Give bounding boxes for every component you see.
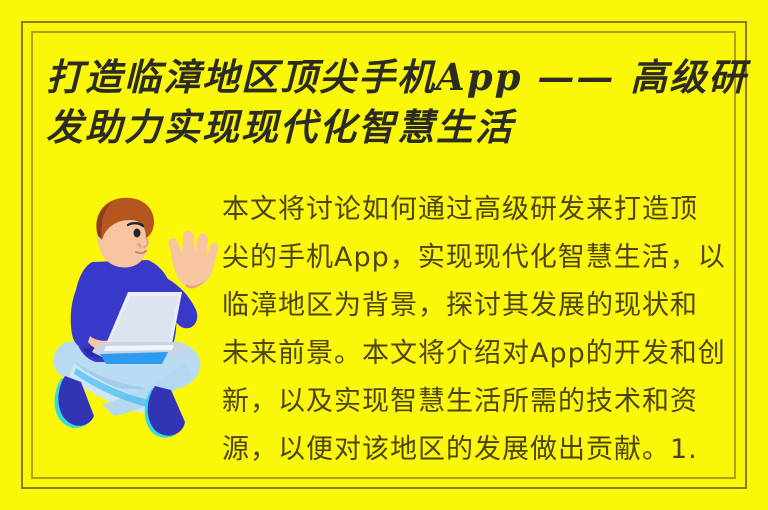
body-line-2: 尖的手机App，实现现代化智慧生活，以 [222, 234, 736, 282]
body-line-5: 新，以及实现智慧生活所需的技术和资 [222, 378, 736, 426]
body-line-3: 临漳地区为背景，探讨其发展的现状和 [222, 282, 736, 330]
head [96, 198, 154, 268]
page-title: 打造临漳地区顶尖手机App —— 高级研 发助力实现现代化智慧生活 [46, 52, 736, 152]
title-line-1: 打造临漳地区顶尖手机App —— 高级研 [46, 52, 736, 102]
body-line-4: 未来前景。本文将介绍对App的开发和创 [222, 330, 736, 378]
title-line-2: 发助力实现现代化智慧生活 [46, 102, 736, 152]
body-line-6: 源，以便对该地区的发展做出贡献。1. [222, 426, 736, 474]
person-sitting-with-laptop-illustration [48, 192, 220, 444]
body-copy: 本文将讨论如何通过高级研发来打造顶 尖的手机App，实现现代化智慧生活，以 临漳… [222, 186, 736, 476]
poster-canvas: 打造临漳地区顶尖手机App —— 高级研 发助力实现现代化智慧生活 [0, 0, 768, 510]
body-line-1: 本文将讨论如何通过高级研发来打造顶 [222, 186, 736, 234]
